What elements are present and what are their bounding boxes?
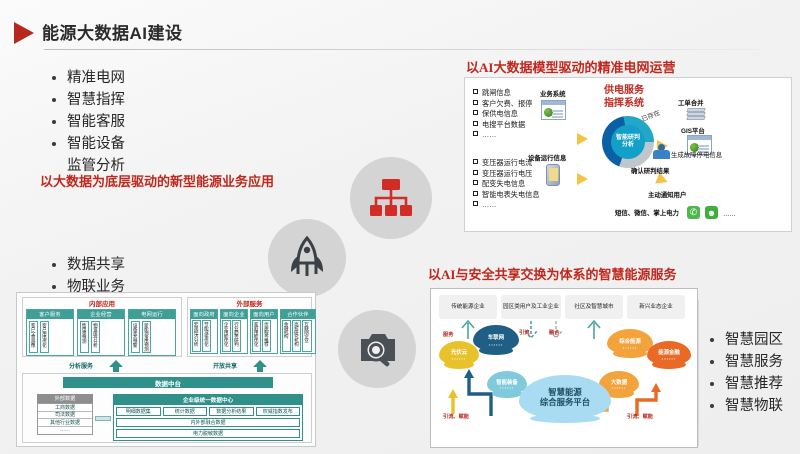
external-service-section: 外部服务 面向政府 宏观经济分析 节能减排优化 面向企业 企业用能优化 行业趋势… xyxy=(187,297,312,357)
list-item: 智能客服 xyxy=(48,112,125,132)
flow-arrow-icon xyxy=(577,173,588,185)
business-data-list: 跳闸信息 客户欠费、报停 保供电信息 电搜平台数据 …… xyxy=(473,88,532,141)
list-item: 智慧推荐 xyxy=(706,374,783,394)
business-system-label: 业务系统 xyxy=(540,89,566,98)
leaf-box: 宏观经济分析 xyxy=(192,320,201,352)
drainage-label: 引流 xyxy=(519,329,529,336)
generate-outage-label: 生成故障停电信息 xyxy=(671,150,722,159)
cloud-dots: •••••• xyxy=(487,385,527,391)
empower-right-label: 引流、赋能 xyxy=(627,413,653,420)
group-box: 面向用户 家庭用能优化 优质服务推荐 xyxy=(250,309,278,354)
hub-label: 智能研判 分析 xyxy=(611,125,645,159)
list-item: …… xyxy=(473,130,532,141)
flow-arrows xyxy=(431,319,699,341)
sitemap-icon xyxy=(350,157,432,239)
cell: 统计数据 xyxy=(163,407,208,416)
cloud-dots: •••••• xyxy=(473,342,519,348)
leaf-box: 节能减排优化 xyxy=(202,320,211,352)
bottom-right-caption: 以AI与安全共享交换为体系的智慧能源服务 xyxy=(428,264,676,283)
list-item: …… xyxy=(473,200,540,211)
exchange-arrow-icon xyxy=(95,416,111,421)
external-data-list: 工商数据 司法数据 其他行业数据 …… xyxy=(37,403,93,435)
notify-user-label: 主动通知用户 xyxy=(648,190,686,199)
leaf-box: 优质服务推荐 xyxy=(262,320,271,352)
list-item: 智慧园区 xyxy=(706,330,783,350)
top-box: 新兴业态企业 xyxy=(627,295,685,319)
list-item: 智慧服务 xyxy=(706,352,783,372)
rocket-glyph xyxy=(286,236,328,280)
external-data-head: 外部数据 xyxy=(37,394,93,403)
checkbox-icon xyxy=(473,191,478,196)
top-box: 社区及智慧城市 xyxy=(565,295,623,319)
analysis-service-label: 分析服务 xyxy=(69,361,93,370)
confirm-result-label: 确认研判结果 xyxy=(631,166,669,175)
page-title: 能源大数据AI建设 xyxy=(42,19,183,44)
gis-platform-label: GIS平台 xyxy=(681,126,705,135)
list-item: 保供电信息 xyxy=(473,109,532,120)
cell: 明细数据集 xyxy=(116,407,161,416)
exists-label: 已存在 xyxy=(640,108,661,124)
checkbox-icon xyxy=(473,159,478,164)
magnifier-glyph xyxy=(355,329,399,369)
leaf-box: 设备状态预警 xyxy=(131,321,140,353)
leaf-box: 客户用电优化 xyxy=(40,321,49,353)
cloud-node: 综合能源 •••••• xyxy=(607,329,653,354)
row: 电力脱敏数据 xyxy=(116,429,300,438)
cloud-node: 能源金融 •••••• xyxy=(647,341,691,365)
cloud-dots: •••••• xyxy=(439,356,479,362)
checkbox-icon xyxy=(473,110,478,115)
red-triangle-icon xyxy=(14,22,34,44)
wechat-icon: ✆ xyxy=(687,206,700,219)
device-data-list: 变压器运行电流 变压器运行电压 配变失电信息 智能电表失电信息 …… xyxy=(473,158,540,211)
leaf-box: 金融机构 xyxy=(282,320,291,352)
group-box: 电网运行 设备状态预警 新能源发电预测 xyxy=(128,309,176,356)
work-order-icon xyxy=(687,108,705,122)
sitemap-glyph xyxy=(369,178,413,218)
internal-title: 内部应用 xyxy=(23,298,181,308)
smart-energy-service-diagram: 传统能源企业 园区类用户及工业企业 社区及智慧城市 新兴业态企业 服务 引流 融… xyxy=(430,288,698,448)
fusion-label: 融合 xyxy=(549,329,559,336)
list-item: 智慧物联 xyxy=(706,396,783,416)
list-item: 数据共享 xyxy=(48,255,125,275)
channels-more-label: …… xyxy=(723,211,736,218)
leaf-box: 高校研究机构 xyxy=(292,320,301,352)
leaf-box: 企业用能优化 xyxy=(222,320,231,352)
list-item: 客户欠费、报停 xyxy=(473,99,532,110)
external-title: 外部服务 xyxy=(188,298,311,308)
top-box: 传统能源企业 xyxy=(439,295,497,319)
checkbox-icon xyxy=(473,100,478,105)
left-top-bullet-list: 精准电网 智慧指挥 智能客服 智能设备 监管分析 xyxy=(48,68,125,178)
list-item: 电搜平台数据 xyxy=(473,120,532,131)
leaf-box: 客户全景画像 xyxy=(29,321,38,353)
system-title: 供电服务 指挥系统 xyxy=(595,84,653,110)
open-share-label: 开放共享 xyxy=(213,361,237,370)
smart-meter-icon xyxy=(546,164,560,186)
flow-arrow-icon xyxy=(577,133,588,145)
order-merge-label: 工单合并 xyxy=(678,98,704,107)
up-arrow-icon xyxy=(253,360,267,367)
up-arrow-icon xyxy=(109,360,123,367)
row: 内外部融合数据 xyxy=(116,418,300,427)
list-item: …… xyxy=(38,427,92,435)
enterprise-data-center: 企业级统一数据中心 明细数据集 统计数据 数据分析结果 权威指数发布 内外部融合… xyxy=(113,394,303,441)
device-info-label: 设备运行信息 xyxy=(528,153,566,162)
operator-icon xyxy=(651,144,671,164)
cloud-dots: •••••• xyxy=(607,345,653,351)
list-item: 精准电网 xyxy=(48,68,125,88)
platform-band: 数据中台 xyxy=(63,377,273,388)
group-box: 面向政府 宏观经济分析 节能减排优化 xyxy=(190,309,218,354)
checkbox-icon xyxy=(473,170,478,175)
leaf-box: 售电量预测 xyxy=(80,321,89,353)
cell: 数据分析结果 xyxy=(209,407,254,416)
leaf-box: 家庭用能优化 xyxy=(252,320,261,352)
leaf-box: 物资库存分析 xyxy=(91,321,100,353)
group-box: 合作伙伴 金融机构 高校研究机构 互联网企业 xyxy=(280,309,316,354)
list-item: 变压器运行电压 xyxy=(473,169,540,180)
list-item: 智慧指挥 xyxy=(48,90,125,110)
leaf-box: 新能源发电预测 xyxy=(142,321,151,353)
leaf-box: 互联网企业 xyxy=(302,320,311,352)
page-header: 能源大数据AI建设 xyxy=(0,8,800,54)
top-box: 园区类用户及工业企业 xyxy=(501,295,561,319)
checkbox-icon xyxy=(473,121,478,126)
group-box: 面向企业 企业用能优化 行业趋势研判 xyxy=(220,309,248,354)
list-item: 智能电表失电信息 xyxy=(473,190,540,201)
up-arrow-stem xyxy=(113,367,119,372)
list-item: 配变失电信息 xyxy=(473,179,540,190)
cloud-dots: •••••• xyxy=(647,356,691,362)
list-item: 跳闸信息 xyxy=(473,88,532,99)
data-platform-diagram: 内部应用 客户服务 客户全景画像 客户用电优化 企业经营 售电量预测 物资库存分… xyxy=(16,292,316,447)
checkbox-icon xyxy=(473,89,478,94)
group-box: 企业经营 售电量预测 物资库存分析 xyxy=(77,309,125,356)
top-right-caption: 以AI大数据模型驱动的精准电网运营 xyxy=(466,57,675,76)
list-item: 智能设备 xyxy=(48,134,125,154)
checkbox-icon xyxy=(473,131,478,136)
business-system-icon xyxy=(541,100,566,120)
group-box: 客户服务 客户全景画像 客户用电优化 xyxy=(26,309,74,356)
channels-label: 短信、微信、掌上电力 xyxy=(615,208,679,217)
leaf-box: 行业趋势研判 xyxy=(232,320,241,352)
right-bullet-list: 智慧园区 智慧服务 智慧推荐 智慧物联 xyxy=(706,330,783,418)
rocket-icon xyxy=(268,219,346,297)
magnifier-icon xyxy=(338,310,416,388)
cloud-node: 智能装备 •••••• xyxy=(487,371,527,394)
empower-left-label: 引流、赋能 xyxy=(443,413,469,420)
service-left-label: 服务 xyxy=(443,331,453,338)
up-arrow-stem xyxy=(257,367,263,372)
left-caption: 以大数据为底层驱动的新型能源业务应用 xyxy=(40,171,274,190)
right-divider xyxy=(698,300,699,446)
center-head: 企业级统一数据中心 xyxy=(114,395,302,405)
grid-operation-diagram: 跳闸信息 客户欠费、报停 保供电信息 电搜平台数据 …… 变压器运行电流 变压器… xyxy=(464,77,792,232)
cloud-node: 车联网 •••••• xyxy=(473,325,519,351)
list-item: 其他行业数据 xyxy=(38,419,92,427)
checkbox-icon xyxy=(473,201,478,206)
analysis-hub-icon: 智能研判 分析 xyxy=(602,116,654,168)
title-divider xyxy=(44,49,760,50)
internal-application-section: 内部应用 客户服务 客户全景画像 客户用电优化 企业经营 售电量预测 物资库存分… xyxy=(22,297,182,357)
app-icon: ☻ xyxy=(705,206,718,219)
cell: 权威指数发布 xyxy=(256,407,301,416)
checkbox-icon xyxy=(473,180,478,185)
central-platform-cloud: 智慧能源 综合服务平台 xyxy=(519,375,611,419)
data-midplatform-section: 数据中台 外部数据 工商数据 司法数据 其他行业数据 …… 企业级统一数据中心 … xyxy=(22,373,312,443)
